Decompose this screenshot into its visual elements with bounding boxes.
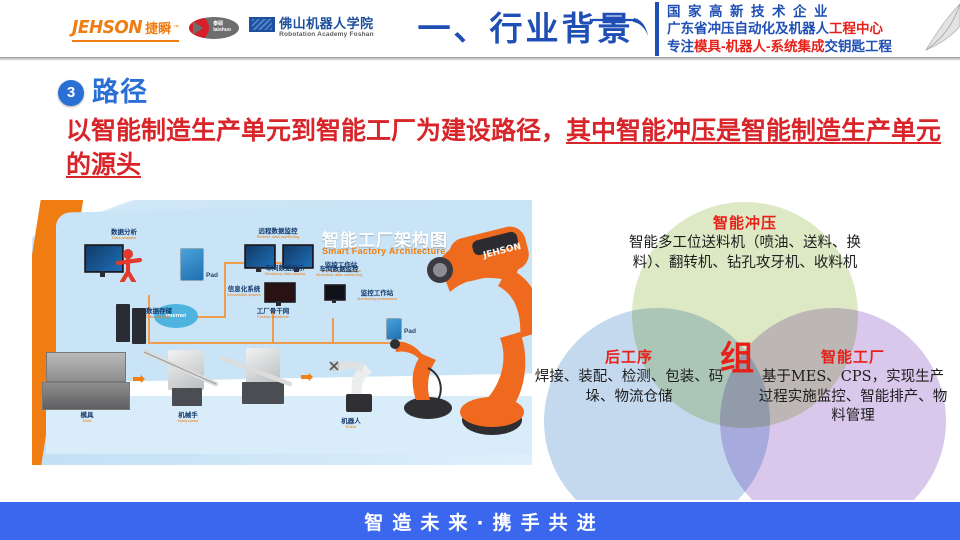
body-paragraph: 以智能制造生产单元到智能工厂为建设路径，其中智能冲压是智能制造生产单元的源头 [66, 114, 956, 182]
monitor-stand [332, 299, 336, 303]
section-title: 一、行业背景 [408, 6, 643, 52]
taishuo-logo-text: 泰硕 taishuo [213, 22, 231, 34]
academy-logo-mark-label: Academy [250, 34, 270, 39]
person-icon [114, 248, 144, 282]
manipulator-arm-icon-2 [220, 350, 296, 392]
monitor-stand [100, 271, 105, 277]
slogan-line-3-blue-a: 专注 [667, 39, 694, 54]
label-remote-data-monitoring: 远程数据监控 Remote data monitoring [232, 228, 324, 240]
label-manipulator: 机械手 Manipulator [166, 412, 210, 424]
orange-robot-icon [388, 338, 468, 420]
jehson-logo-underbar [72, 40, 179, 42]
academy-logo-en: Robotation Academy Foshan [279, 32, 374, 39]
venn-body-smart-stamping: 智能多工位送料机（喷油、送料、换料）、翻转机、钻孔攻牙机、收料机 [620, 234, 870, 273]
label-mold: 模具 Mold [60, 412, 114, 424]
flow-arrow-icon-2: ➡ [300, 370, 313, 386]
taishuo-logo: 泰硕 taishuo [189, 17, 239, 39]
slide-header: JEHSON 捷瞬 ™ 泰硕 taishuo Academy 佛山机器人学院 [0, 0, 960, 57]
jehson-logo: JEHSON 捷瞬 ™ [72, 17, 179, 39]
venn-head-smart-stamping: 智能冲压 [620, 214, 870, 233]
label-factory-backbone: 工厂骨干网 Factory backbone [240, 308, 306, 320]
white-robot-icon [328, 346, 394, 416]
label-workshop-data-monitoring: 车间数据监控 Workshop data monitoring [304, 266, 374, 278]
jehson-logo-cn: 捷瞬 [145, 22, 171, 35]
academy-logo-mark-icon: Academy [249, 17, 275, 39]
step-number-badge: 3 [58, 80, 84, 106]
venn-label-post-process: 后工序 焊接、装配、检测、包装、码垛、物流仓储 [534, 348, 724, 407]
venn-label-smart-factory: 智能工厂 基于MES、CPS，实现生产过程实施监控、智能排产、物料管理 [758, 348, 948, 427]
venn-body-smart-factory: 基于MES、CPS，实现生产过程实施监控、智能排产、物料管理 [758, 368, 948, 427]
taishuo-logo-wedge-icon [193, 21, 203, 35]
company-slogan-block: 国家高新技术企业 广东省冲压自动化及机器人工程中心 专注模具-机器人-系统集成交… [655, 2, 913, 56]
trademark-icon: ™ [173, 25, 179, 31]
logo-group: JEHSON 捷瞬 ™ 泰硕 taishuo Academy 佛山机器人学院 [72, 9, 374, 47]
academy-logo: Academy 佛山机器人学院 Robotation Academy Fosha… [249, 17, 374, 39]
monitor-stand [276, 301, 281, 306]
slide: JEHSON 捷瞬 ™ 泰硕 taishuo Academy 佛山机器人学院 [0, 0, 960, 540]
label-data-analysis: 数据分析 Data analysis [94, 229, 154, 241]
body-paragraph-plain: 以智能制造生产单元到智能工厂为建设路径， [66, 116, 566, 145]
slogan-line-3-red: 模具-机器人-系统集成 [694, 39, 825, 54]
data-storage-server-icon-2 [132, 308, 146, 344]
mold-image [46, 352, 126, 382]
page-curl-icon [904, 0, 960, 56]
venn-label-smart-stamping: 智能冲压 智能多工位送料机（喷油、送料、换料）、翻转机、钻孔攻牙机、收料机 [620, 214, 870, 273]
slogan-line-2-red: 工程中心 [829, 21, 883, 36]
slogan-line-1: 国家高新技术企业 [667, 3, 913, 21]
slogan-line-3-blue-b: 交钥匙工程 [825, 39, 893, 54]
data-storage-server-icon-1 [116, 304, 130, 342]
smart-factory-architecture-image: 智能工厂架构图 Smart Factory Architecture 数据分析 … [32, 200, 532, 465]
pad-label-1: Pad [206, 272, 218, 279]
slide-footer: 智造未来·携手共进 [0, 502, 960, 540]
slogan-line-2-blue: 广东省冲压自动化及机器人 [667, 21, 829, 36]
venn-head-post-process: 后工序 [534, 348, 724, 367]
venn-head-smart-factory: 智能工厂 [758, 348, 948, 367]
link-line [332, 318, 334, 343]
pad-device-icon [180, 248, 204, 281]
academy-logo-cn: 佛山机器人学院 [279, 17, 374, 30]
footer-slogan: 智造未来·携手共进 [355, 508, 604, 535]
header-divider [0, 57, 960, 61]
label-data-storage: 数据存储 Data storage [146, 308, 204, 320]
label-information-system: 信息化系统 Information system [218, 286, 270, 298]
venn-center-label: 组 [702, 339, 772, 379]
taishuo-logo-en: taishuo [213, 27, 231, 33]
academy-logo-text: 佛山机器人学院 Robotation Academy Foshan [279, 17, 374, 39]
venn-diagram: 智能冲压 智能多工位送料机（喷油、送料、换料）、翻转机、钻孔攻牙机、收料机 后工… [536, 196, 956, 506]
jehson-logo-wordmark: JEHSON [72, 19, 142, 37]
slogan-line-3: 专注模具-机器人-系统集成交钥匙工程 [667, 38, 913, 56]
slogan-line-2: 广东省冲压自动化及机器人工程中心 [667, 20, 913, 38]
mold-base-image [42, 382, 130, 410]
page-title: 路径 [92, 76, 148, 110]
label-robot: 机器人 Robot [328, 418, 374, 430]
manipulator-arm-icon-1 [142, 346, 222, 392]
venn-body-post-process: 焊接、装配、检测、包装、码垛、物流仓储 [534, 368, 724, 407]
